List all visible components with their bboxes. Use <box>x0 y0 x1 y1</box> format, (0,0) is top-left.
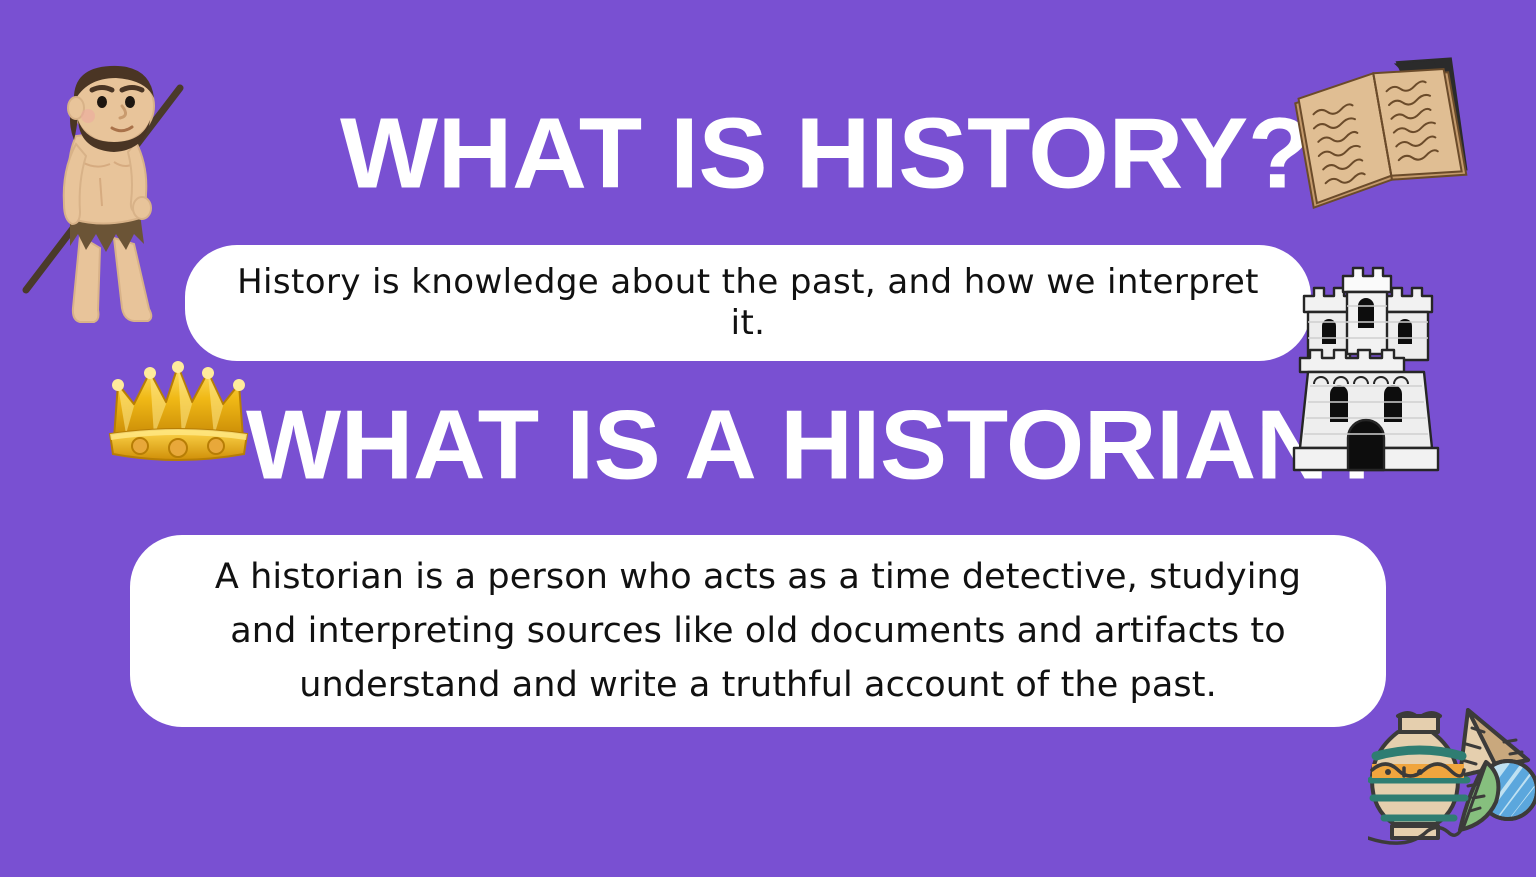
historian-answer-text: A historian is a person who acts as a ti… <box>186 550 1330 713</box>
caveman-with-spear-icon <box>18 58 190 330</box>
page-title-what-is-history: WHAT IS HISTORY? <box>340 103 1311 203</box>
slide-canvas: WHAT IS HISTORY? History is knowledge ab… <box>0 0 1536 877</box>
history-answer-text: History is knowledge about the past, and… <box>229 262 1267 344</box>
crown-icon <box>104 358 252 470</box>
ancient-artifacts-icon <box>1368 698 1536 850</box>
historian-answer-card: A historian is a person who acts as a ti… <box>130 535 1386 727</box>
page-title-what-is-a-historian: WHAT IS A HISTORIAN? <box>246 397 1389 495</box>
history-answer-card: History is knowledge about the past, and… <box>185 245 1311 361</box>
open-book-icon <box>1288 48 1484 220</box>
